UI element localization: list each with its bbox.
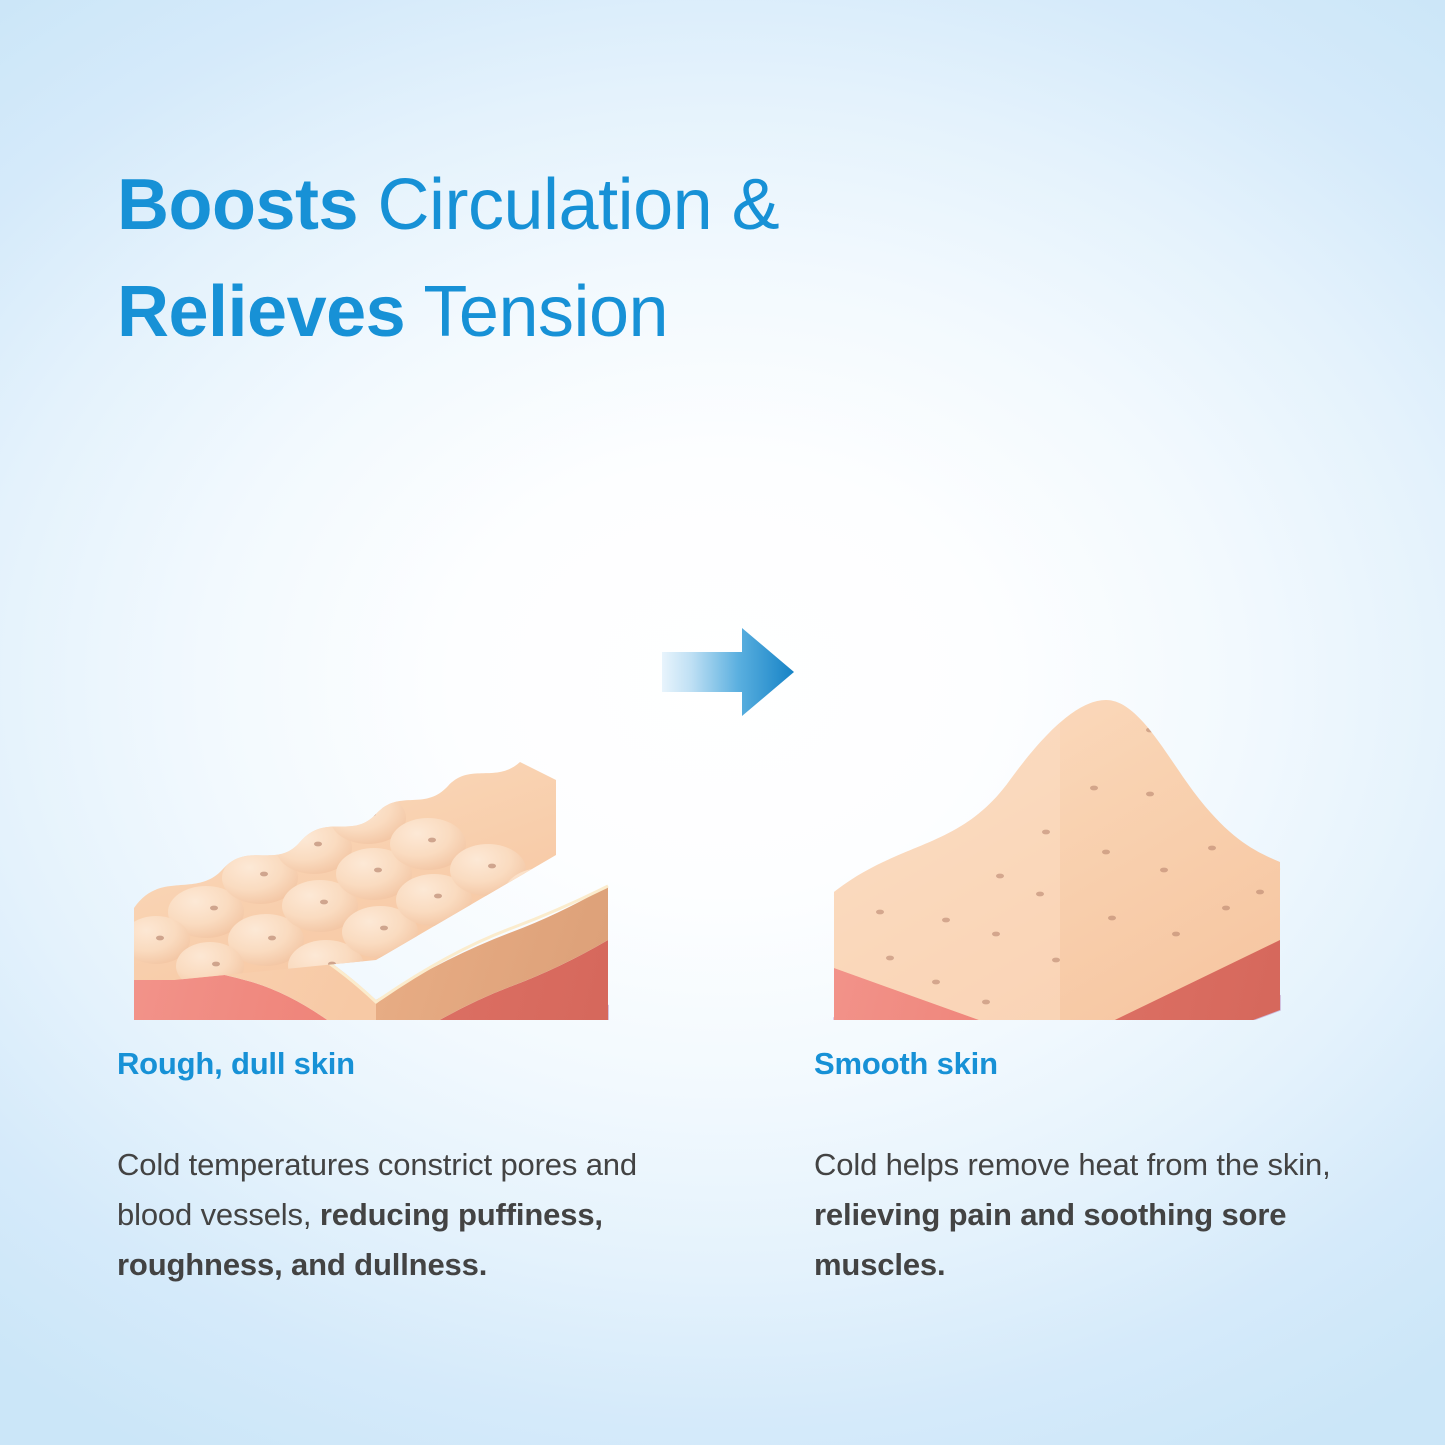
headline-bold-relieves: Relieves: [117, 272, 405, 352]
headline-bold-boosts: Boosts: [117, 165, 358, 245]
body-bold-smooth: relieving pain and soothing sore muscles…: [814, 1197, 1286, 1282]
column-body-smooth: Cold helps remove heat from the skin, re…: [814, 1140, 1334, 1291]
skin-comparison-illustration: [0, 400, 1445, 1020]
column-smooth-skin: Smooth skin Cold helps remove heat from …: [814, 1046, 1334, 1291]
column-title-smooth: Smooth skin: [814, 1046, 1334, 1082]
headline-line-2: Relieves Tension: [117, 259, 1127, 366]
transition-arrow: [662, 628, 794, 716]
column-rough-skin: Rough, dull skin Cold temperatures const…: [117, 1046, 697, 1291]
infographic-poster: Boosts Circulation & Relieves Tension: [0, 0, 1445, 1445]
smooth-skin-block: [820, 680, 1300, 1020]
headline-rest-tension: Tension: [405, 272, 668, 352]
headline-line-1: Boosts Circulation &: [117, 152, 1127, 259]
page-title: Boosts Circulation & Relieves Tension: [117, 152, 1127, 365]
rough-skin-block: [120, 740, 620, 1020]
column-title-rough: Rough, dull skin: [117, 1046, 697, 1082]
headline-rest-circulation: Circulation &: [358, 165, 779, 245]
column-body-rough: Cold temperatures constrict pores and bl…: [117, 1140, 697, 1291]
body-plain-smooth: Cold helps remove heat from the skin,: [814, 1147, 1331, 1182]
